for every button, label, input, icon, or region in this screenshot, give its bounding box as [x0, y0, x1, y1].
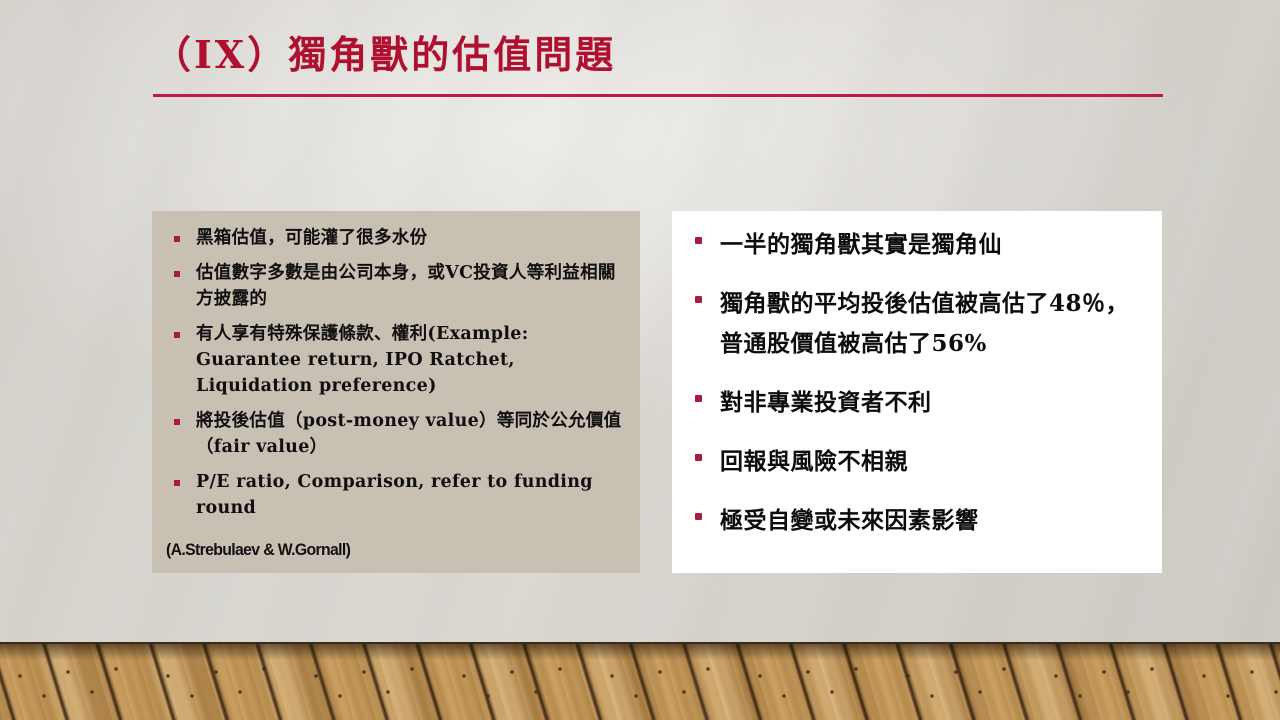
bullet-text: 一半的獨角獸其實是獨角仙	[720, 225, 1148, 265]
list-item: 極受自變或未來因素影響	[686, 501, 1148, 541]
list-item: 估值數字多數是由公司本身，或VC投資人等利益相關方披露的	[166, 260, 626, 312]
list-item: 有人享有特殊保護條款、權利(Example: Guarantee return,…	[166, 321, 626, 399]
left-content-panel: 黑箱估值，可能灌了很多水份 估值數字多數是由公司本身，或VC投資人等利益相關方披…	[152, 211, 640, 573]
bullet-text: 有人享有特殊保護條款、權利(Example: Guarantee return,…	[196, 321, 626, 399]
bullet-text: 回報與風險不相親	[720, 442, 1148, 482]
bullet-square-icon	[695, 454, 702, 461]
title-block: （IX）獨角獸的估值問題	[153, 32, 1163, 78]
right-bullet-list: 一半的獨角獸其實是獨角仙 獨角獸的平均投後估值被高估了48％，普通股價值被高估了…	[686, 225, 1148, 541]
bullet-text: 估值數字多數是由公司本身，或VC投資人等利益相關方披露的	[196, 260, 626, 312]
slide-canvas: （IX）獨角獸的估值問題 黑箱估值，可能灌了很多水份 估值數字多數是由公司本身，…	[0, 0, 1280, 720]
list-item: 一半的獨角獸其實是獨角仙	[686, 225, 1148, 265]
bullet-square-icon	[174, 480, 180, 486]
bullet-square-icon	[174, 236, 180, 242]
source-attribution: (A.Strebulaev & W.Gornall)	[166, 539, 350, 561]
right-content-panel: 一半的獨角獸其實是獨角仙 獨角獸的平均投後估值被高估了48％，普通股價值被高估了…	[672, 211, 1162, 573]
bullet-square-icon	[695, 395, 702, 402]
bullet-text: 黑箱估值，可能灌了很多水份	[196, 225, 626, 251]
bullet-text: 獨角獸的平均投後估值被高估了48％，普通股價值被高估了56%	[720, 284, 1148, 364]
bullet-square-icon	[174, 271, 180, 277]
list-item: 將投後估值（post-money value）等同於公允價值（fair valu…	[166, 408, 626, 460]
title-underline-rule	[153, 94, 1163, 97]
list-item: 黑箱估值，可能灌了很多水份	[166, 225, 626, 251]
page-title: （IX）獨角獸的估值問題	[153, 32, 1163, 78]
floor-planks	[0, 642, 1280, 720]
list-item: P/E ratio, Comparison, refer to funding …	[166, 469, 626, 521]
bullet-text: 將投後估值（post-money value）等同於公允價值（fair valu…	[196, 408, 626, 460]
bullet-square-icon	[174, 332, 180, 338]
bullet-text: 對非專業投資者不利	[720, 383, 1148, 423]
bullet-square-icon	[695, 237, 702, 244]
list-item: 對非專業投資者不利	[686, 383, 1148, 423]
bullet-text: 極受自變或未來因素影響	[720, 501, 1148, 541]
bullet-square-icon	[695, 296, 702, 303]
list-item: 回報與風險不相親	[686, 442, 1148, 482]
bullet-text: P/E ratio, Comparison, refer to funding …	[196, 469, 626, 521]
left-bullet-list: 黑箱估值，可能灌了很多水份 估值數字多數是由公司本身，或VC投資人等利益相關方披…	[166, 225, 626, 521]
bullet-square-icon	[695, 513, 702, 520]
list-item: 獨角獸的平均投後估值被高估了48％，普通股價值被高估了56%	[686, 284, 1148, 364]
wooden-floor-decoration	[0, 642, 1280, 720]
bullet-square-icon	[174, 419, 180, 425]
